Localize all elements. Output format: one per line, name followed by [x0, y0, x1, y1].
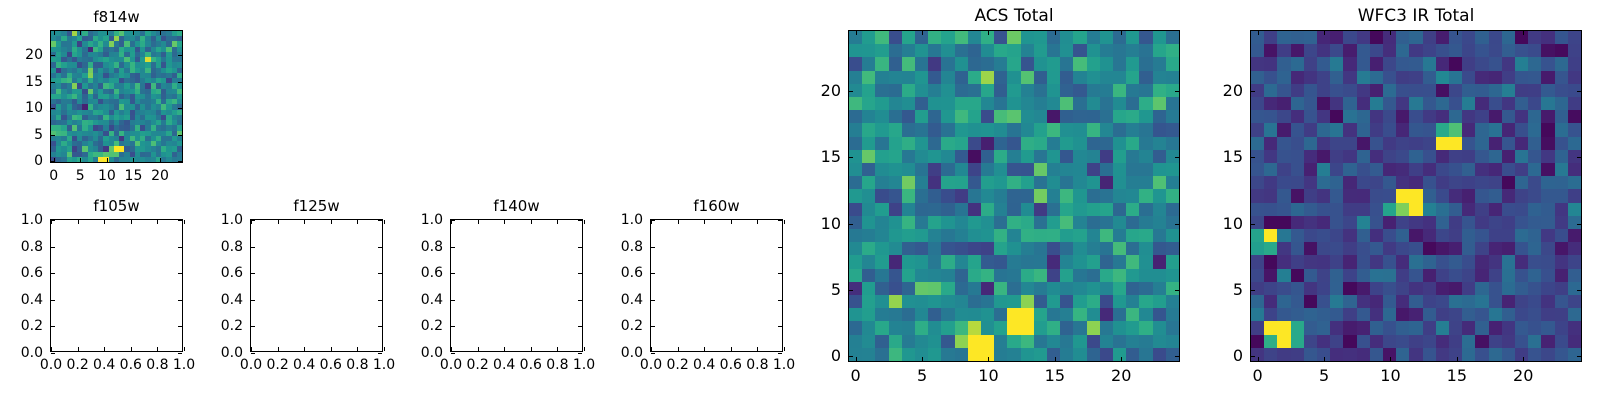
yticklabel-acs-total-1: 5 — [831, 282, 841, 298]
yticklabel-f140w-1: 0.2 — [421, 319, 443, 333]
xtick-top-wfc3-ir-total-4 — [1523, 31, 1524, 35]
ytick-right-wfc3-ir-total-3 — [1577, 157, 1581, 158]
xtick-top-f814w-0 — [54, 31, 55, 35]
xtick-acs-total-0 — [856, 357, 857, 361]
xtick-f140w-4 — [557, 347, 558, 351]
ytick-f105w-2 — [51, 300, 55, 301]
heatmap-f814w — [51, 31, 182, 162]
panel-title-wfc3-ir-total: WFC3 IR Total — [1358, 8, 1475, 25]
yticklabel-f125w-4: 0.8 — [221, 240, 243, 254]
ytick-wfc3-ir-total-3 — [1251, 157, 1255, 158]
xtick-top-f140w-4 — [557, 220, 558, 224]
yticklabel-f125w-3: 0.6 — [221, 266, 243, 280]
panel-title-f125w: f125w — [293, 199, 339, 214]
ytick-f105w-1 — [51, 326, 55, 327]
ytick-right-f814w-2 — [178, 108, 182, 109]
xtick-f814w-2 — [107, 158, 108, 162]
ytick-f125w-3 — [251, 273, 255, 274]
xtick-top-acs-total-1 — [922, 31, 923, 35]
yticklabel-f160w-3: 0.6 — [621, 266, 643, 280]
panel-title-acs-total: ACS Total — [974, 8, 1053, 25]
xtick-top-f125w-2 — [304, 220, 305, 224]
xtick-top-f125w-1 — [278, 220, 279, 224]
xtick-f160w-4 — [757, 347, 758, 351]
panel-f814w: f814w0510152005101520 — [50, 30, 183, 163]
xtick-wfc3-ir-total-2 — [1390, 357, 1391, 361]
xticklabel-f105w-1: 0.2 — [66, 358, 88, 372]
ytick-f140w-1 — [451, 326, 455, 327]
xtick-top-f160w-3 — [731, 220, 732, 224]
ytick-right-wfc3-ir-total-1 — [1577, 290, 1581, 291]
xticklabel-acs-total-1: 5 — [917, 368, 927, 384]
xticklabel-f125w-3: 0.6 — [320, 358, 342, 372]
ytick-f140w-0 — [451, 353, 455, 354]
xtick-top-f125w-4 — [357, 220, 358, 224]
xticklabel-f160w-4: 0.8 — [746, 358, 768, 372]
yticklabel-f814w-0: 0 — [34, 154, 43, 168]
xticklabel-f125w-0: 0.0 — [240, 358, 262, 372]
xticklabel-f160w-2: 0.4 — [693, 358, 715, 372]
xtick-top-f105w-4 — [157, 220, 158, 224]
xtick-f125w-2 — [304, 347, 305, 351]
xtick-acs-total-2 — [988, 357, 989, 361]
panel-f160w: f160w0.00.20.40.60.81.00.00.20.40.60.81.… — [650, 219, 783, 352]
yticklabel-f140w-5: 1.0 — [421, 213, 443, 227]
yticklabel-acs-total-0: 0 — [831, 348, 841, 364]
ytick-right-f105w-1 — [178, 326, 182, 327]
panel-f125w: f125w0.00.20.40.60.81.00.00.20.40.60.81.… — [250, 219, 383, 352]
xtick-top-f140w-3 — [531, 220, 532, 224]
yticklabel-f140w-3: 0.6 — [421, 266, 443, 280]
ytick-acs-total-3 — [849, 157, 853, 158]
ytick-right-f125w-2 — [378, 300, 382, 301]
ytick-f160w-3 — [651, 273, 655, 274]
xtick-top-f125w-3 — [331, 220, 332, 224]
xticklabel-f160w-1: 0.2 — [666, 358, 688, 372]
xticklabel-f814w-4: 20 — [151, 169, 169, 183]
xtick-acs-total-3 — [1055, 357, 1056, 361]
xticklabel-f160w-5: 1.0 — [773, 358, 795, 372]
xtick-f105w-2 — [104, 347, 105, 351]
ytick-f125w-4 — [251, 247, 255, 248]
xticklabel-f105w-2: 0.4 — [93, 358, 115, 372]
xtick-top-f160w-2 — [704, 220, 705, 224]
yticklabel-f105w-5: 1.0 — [21, 213, 43, 227]
xtick-top-f105w-1 — [78, 220, 79, 224]
ytick-right-acs-total-1 — [1175, 290, 1179, 291]
yticklabel-wfc3-ir-total-0: 0 — [1233, 348, 1243, 364]
ytick-right-f125w-4 — [378, 247, 382, 248]
yticklabel-f105w-1: 0.2 — [21, 319, 43, 333]
ytick-right-acs-total-0 — [1175, 356, 1179, 357]
ytick-f814w-3 — [51, 82, 55, 83]
xtick-top-wfc3-ir-total-2 — [1390, 31, 1391, 35]
ytick-right-f814w-0 — [178, 161, 182, 162]
ytick-acs-total-4 — [849, 91, 853, 92]
yticklabel-wfc3-ir-total-2: 10 — [1223, 216, 1243, 232]
xtick-acs-total-1 — [922, 357, 923, 361]
xtick-top-f160w-4 — [757, 220, 758, 224]
xtick-top-f814w-4 — [160, 31, 161, 35]
ytick-right-f125w-3 — [378, 273, 382, 274]
xtick-f105w-0 — [51, 347, 52, 351]
xticklabel-f125w-4: 0.8 — [346, 358, 368, 372]
xtick-top-acs-total-4 — [1121, 31, 1122, 35]
xticklabel-wfc3-ir-total-2: 10 — [1380, 368, 1400, 384]
ytick-right-f160w-1 — [778, 326, 782, 327]
yticklabel-f160w-2: 0.4 — [621, 293, 643, 307]
yticklabel-wfc3-ir-total-1: 5 — [1233, 282, 1243, 298]
yticklabel-f105w-0: 0.0 — [21, 346, 43, 360]
yticklabel-f160w-0: 0.0 — [621, 346, 643, 360]
xticklabel-acs-total-4: 20 — [1111, 368, 1131, 384]
ytick-right-acs-total-2 — [1175, 224, 1179, 225]
xticklabel-f140w-4: 0.8 — [546, 358, 568, 372]
ytick-right-wfc3-ir-total-0 — [1577, 356, 1581, 357]
yticklabel-f140w-0: 0.0 — [421, 346, 443, 360]
yticklabel-f105w-3: 0.6 — [21, 266, 43, 280]
ytick-f160w-5 — [651, 220, 655, 221]
xtick-top-acs-total-3 — [1055, 31, 1056, 35]
xticklabel-f105w-4: 0.8 — [146, 358, 168, 372]
xticklabel-f140w-0: 0.0 — [440, 358, 462, 372]
xticklabel-f814w-2: 10 — [98, 169, 116, 183]
ytick-f160w-2 — [651, 300, 655, 301]
ytick-f125w-1 — [251, 326, 255, 327]
ytick-right-f160w-5 — [778, 220, 782, 221]
xticklabel-f125w-1: 0.2 — [266, 358, 288, 372]
panel-title-f140w: f140w — [493, 199, 539, 214]
ytick-right-f140w-0 — [578, 353, 582, 354]
xtick-f125w-5 — [384, 347, 385, 351]
ytick-f140w-2 — [451, 300, 455, 301]
yticklabel-f140w-4: 0.8 — [421, 240, 443, 254]
ytick-f140w-3 — [451, 273, 455, 274]
ytick-right-f160w-4 — [778, 247, 782, 248]
xticklabel-acs-total-2: 10 — [978, 368, 998, 384]
ytick-f105w-5 — [51, 220, 55, 221]
xtick-f140w-0 — [451, 347, 452, 351]
yticklabel-f125w-2: 0.4 — [221, 293, 243, 307]
xticklabel-acs-total-0: 0 — [851, 368, 861, 384]
xtick-f140w-2 — [504, 347, 505, 351]
xtick-f160w-3 — [731, 347, 732, 351]
xtick-top-f160w-1 — [678, 220, 679, 224]
yticklabel-acs-total-2: 10 — [821, 216, 841, 232]
ytick-right-f125w-5 — [378, 220, 382, 221]
xtick-f814w-4 — [160, 158, 161, 162]
ytick-f160w-4 — [651, 247, 655, 248]
yticklabel-wfc3-ir-total-4: 20 — [1223, 83, 1243, 99]
panel-acs-total: ACS Total0510152005101520 — [848, 30, 1180, 362]
xticklabel-f814w-3: 15 — [125, 169, 143, 183]
ytick-right-f105w-4 — [178, 247, 182, 248]
xtick-top-f814w-3 — [133, 31, 134, 35]
xtick-wfc3-ir-total-0 — [1258, 357, 1259, 361]
xticklabel-f125w-5: 1.0 — [373, 358, 395, 372]
ytick-right-f160w-0 — [778, 353, 782, 354]
ytick-f814w-1 — [51, 135, 55, 136]
xtick-f105w-3 — [131, 347, 132, 351]
ytick-right-wfc3-ir-total-2 — [1577, 224, 1581, 225]
xticklabel-f140w-5: 1.0 — [573, 358, 595, 372]
ytick-right-f140w-3 — [578, 273, 582, 274]
ytick-right-f814w-3 — [178, 82, 182, 83]
yticklabel-f125w-0: 0.0 — [221, 346, 243, 360]
yticklabel-acs-total-4: 20 — [821, 83, 841, 99]
ytick-acs-total-0 — [849, 356, 853, 357]
xticklabel-f140w-2: 0.4 — [493, 358, 515, 372]
ytick-right-f140w-1 — [578, 326, 582, 327]
xticklabel-f140w-1: 0.2 — [466, 358, 488, 372]
xtick-f105w-4 — [157, 347, 158, 351]
panel-f140w: f140w0.00.20.40.60.81.00.00.20.40.60.81.… — [450, 219, 583, 352]
ytick-right-f160w-3 — [778, 273, 782, 274]
xtick-f125w-1 — [278, 347, 279, 351]
ytick-f160w-0 — [651, 353, 655, 354]
xticklabel-f160w-3: 0.6 — [720, 358, 742, 372]
xticklabel-f105w-0: 0.0 — [40, 358, 62, 372]
ytick-right-wfc3-ir-total-4 — [1577, 91, 1581, 92]
ytick-f160w-1 — [651, 326, 655, 327]
ytick-f125w-2 — [251, 300, 255, 301]
yticklabel-f160w-4: 0.8 — [621, 240, 643, 254]
xticklabel-wfc3-ir-total-1: 5 — [1319, 368, 1329, 384]
ytick-f105w-3 — [51, 273, 55, 274]
xtick-f105w-1 — [78, 347, 79, 351]
ytick-right-f105w-3 — [178, 273, 182, 274]
ytick-acs-total-2 — [849, 224, 853, 225]
xtick-f814w-3 — [133, 158, 134, 162]
yticklabel-f814w-2: 10 — [25, 101, 43, 115]
ytick-acs-total-1 — [849, 290, 853, 291]
xtick-top-f105w-5 — [184, 220, 185, 224]
xtick-top-f140w-2 — [504, 220, 505, 224]
panel-title-f105w: f105w — [93, 199, 139, 214]
ytick-right-acs-total-4 — [1175, 91, 1179, 92]
xticklabel-f105w-3: 0.6 — [120, 358, 142, 372]
ytick-right-f105w-0 — [178, 353, 182, 354]
xtick-acs-total-4 — [1121, 357, 1122, 361]
ytick-right-f105w-5 — [178, 220, 182, 221]
xtick-f160w-0 — [651, 347, 652, 351]
xtick-f160w-1 — [678, 347, 679, 351]
yticklabel-f814w-3: 15 — [25, 75, 43, 89]
xtick-top-f105w-2 — [104, 220, 105, 224]
xtick-f125w-4 — [357, 347, 358, 351]
xtick-top-acs-total-2 — [988, 31, 989, 35]
ytick-right-f125w-0 — [378, 353, 382, 354]
panel-title-f160w: f160w — [693, 199, 739, 214]
ytick-f814w-2 — [51, 108, 55, 109]
xtick-f140w-3 — [531, 347, 532, 351]
yticklabel-f105w-4: 0.8 — [21, 240, 43, 254]
ytick-right-f814w-4 — [178, 55, 182, 56]
xtick-top-f140w-5 — [584, 220, 585, 224]
yticklabel-f140w-2: 0.4 — [421, 293, 443, 307]
xtick-top-wfc3-ir-total-1 — [1324, 31, 1325, 35]
xtick-top-f140w-1 — [478, 220, 479, 224]
ytick-f814w-0 — [51, 161, 55, 162]
xtick-top-f160w-5 — [784, 220, 785, 224]
yticklabel-f814w-1: 5 — [34, 128, 43, 142]
xtick-f160w-2 — [704, 347, 705, 351]
panel-title-f814w: f814w — [93, 10, 139, 25]
xticklabel-wfc3-ir-total-4: 20 — [1513, 368, 1533, 384]
xticklabel-f140w-3: 0.6 — [520, 358, 542, 372]
xtick-top-f814w-2 — [107, 31, 108, 35]
ytick-f140w-5 — [451, 220, 455, 221]
ytick-right-f160w-2 — [778, 300, 782, 301]
xtick-f140w-1 — [478, 347, 479, 351]
xtick-f160w-5 — [784, 347, 785, 351]
ytick-wfc3-ir-total-1 — [1251, 290, 1255, 291]
yticklabel-f160w-1: 0.2 — [621, 319, 643, 333]
ytick-wfc3-ir-total-2 — [1251, 224, 1255, 225]
yticklabel-f125w-5: 1.0 — [221, 213, 243, 227]
ytick-right-f105w-2 — [178, 300, 182, 301]
xtick-f125w-0 — [251, 347, 252, 351]
ytick-wfc3-ir-total-0 — [1251, 356, 1255, 357]
ytick-f125w-5 — [251, 220, 255, 221]
xtick-wfc3-ir-total-3 — [1457, 357, 1458, 361]
ytick-f814w-4 — [51, 55, 55, 56]
xticklabel-f160w-0: 0.0 — [640, 358, 662, 372]
ytick-wfc3-ir-total-4 — [1251, 91, 1255, 92]
yticklabel-f814w-4: 20 — [25, 48, 43, 62]
ytick-f140w-4 — [451, 247, 455, 248]
ytick-right-f814w-1 — [178, 135, 182, 136]
xtick-top-f105w-3 — [131, 220, 132, 224]
xtick-f125w-3 — [331, 347, 332, 351]
xticklabel-f125w-2: 0.4 — [293, 358, 315, 372]
yticklabel-f160w-5: 1.0 — [621, 213, 643, 227]
xtick-top-acs-total-0 — [856, 31, 857, 35]
xticklabel-wfc3-ir-total-0: 0 — [1253, 368, 1263, 384]
ytick-right-acs-total-3 — [1175, 157, 1179, 158]
panel-f105w: f105w0.00.20.40.60.81.00.00.20.40.60.81.… — [50, 219, 183, 352]
xtick-f814w-1 — [80, 158, 81, 162]
xtick-top-wfc3-ir-total-3 — [1457, 31, 1458, 35]
figure-canvas: f814w0510152005101520f105w0.00.20.40.60.… — [0, 0, 1600, 400]
ytick-right-f140w-2 — [578, 300, 582, 301]
xticklabel-acs-total-3: 15 — [1045, 368, 1065, 384]
xtick-top-f125w-5 — [384, 220, 385, 224]
xticklabel-f105w-5: 1.0 — [173, 358, 195, 372]
xtick-f140w-5 — [584, 347, 585, 351]
heatmap-acs-total — [849, 31, 1179, 361]
ytick-right-f140w-5 — [578, 220, 582, 221]
xtick-top-f814w-1 — [80, 31, 81, 35]
xtick-wfc3-ir-total-1 — [1324, 357, 1325, 361]
ytick-f125w-0 — [251, 353, 255, 354]
xticklabel-f814w-1: 5 — [76, 169, 85, 183]
yticklabel-wfc3-ir-total-3: 15 — [1223, 149, 1243, 165]
panel-wfc3-ir-total: WFC3 IR Total0510152005101520 — [1250, 30, 1582, 362]
xticklabel-f814w-0: 0 — [49, 169, 58, 183]
yticklabel-f105w-2: 0.4 — [21, 293, 43, 307]
ytick-f105w-0 — [51, 353, 55, 354]
xtick-wfc3-ir-total-4 — [1523, 357, 1524, 361]
ytick-right-f140w-4 — [578, 247, 582, 248]
xtick-f105w-5 — [184, 347, 185, 351]
yticklabel-f125w-1: 0.2 — [221, 319, 243, 333]
xtick-top-wfc3-ir-total-0 — [1258, 31, 1259, 35]
xticklabel-wfc3-ir-total-3: 15 — [1447, 368, 1467, 384]
ytick-f105w-4 — [51, 247, 55, 248]
heatmap-wfc3-ir-total — [1251, 31, 1581, 361]
yticklabel-acs-total-3: 15 — [821, 149, 841, 165]
ytick-right-f125w-1 — [378, 326, 382, 327]
